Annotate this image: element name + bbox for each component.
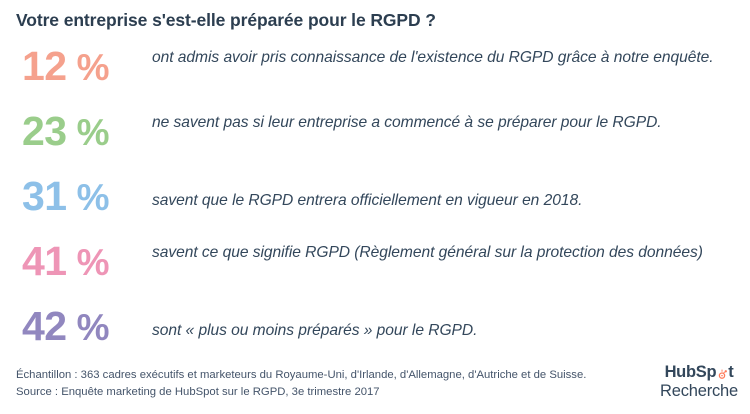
hubspot-wordmark: HubSp t: [665, 364, 734, 381]
footer-sample-line: Échantillon : 363 cadres exécutifs et ma…: [16, 367, 586, 383]
stat-number: 12: [22, 46, 67, 87]
stat-row: 12 % ont admis avoir pris connaissance d…: [0, 44, 750, 109]
page-title: Votre entreprise s'est-elle préparée pou…: [16, 10, 436, 31]
stat-number: 41: [22, 241, 67, 282]
hubspot-research-logo: HubSp t Recherche: [660, 364, 738, 400]
hubspot-research-label: Recherche: [660, 383, 738, 400]
stat-figure: 12 %: [0, 44, 152, 87]
footer-source: Échantillon : 363 cadres exécutifs et ma…: [16, 367, 586, 400]
stat-percent-sign: %: [77, 309, 110, 346]
stat-percent-sign: %: [77, 244, 110, 281]
stat-percent-sign: %: [77, 114, 110, 151]
stat-percent-sign: %: [77, 49, 110, 86]
footer-source-line: Source : Enquête marketing de HubSpot su…: [16, 384, 586, 400]
infographic-root: Votre entreprise s'est-elle préparée pou…: [0, 0, 750, 414]
stat-number: 23: [22, 111, 67, 152]
stat-figure: 42 %: [0, 304, 152, 347]
stat-row: 31 % savent que le RGPD entrera officiel…: [0, 174, 750, 239]
stats-list: 12 % ont admis avoir pris connaissance d…: [0, 44, 750, 369]
stat-description: ne savent pas si leur entreprise a comme…: [152, 109, 750, 134]
stat-figure: 41 %: [0, 239, 152, 282]
stat-figure: 31 %: [0, 174, 152, 217]
stat-row: 42 % sont « plus ou moins préparés » pou…: [0, 304, 750, 369]
stat-row: 23 % ne savent pas si leur entreprise a …: [0, 109, 750, 174]
stat-number: 31: [22, 176, 67, 217]
stat-figure: 23 %: [0, 109, 152, 152]
stat-description: savent ce que signifie RGPD (Règlement g…: [152, 239, 750, 264]
stat-description: savent que le RGPD entrera officiellemen…: [152, 174, 750, 212]
stat-percent-sign: %: [77, 179, 110, 216]
hubspot-sprocket-icon: [716, 368, 728, 380]
hubspot-wordmark-prefix: HubSp: [665, 364, 717, 381]
stat-description: ont admis avoir pris connaissance de l'e…: [152, 44, 750, 69]
hubspot-wordmark-suffix: t: [728, 364, 733, 381]
stat-description: sont « plus ou moins préparés » pour le …: [152, 304, 750, 342]
stat-number: 42: [22, 306, 67, 347]
stat-row: 41 % savent ce que signifie RGPD (Règlem…: [0, 239, 750, 304]
